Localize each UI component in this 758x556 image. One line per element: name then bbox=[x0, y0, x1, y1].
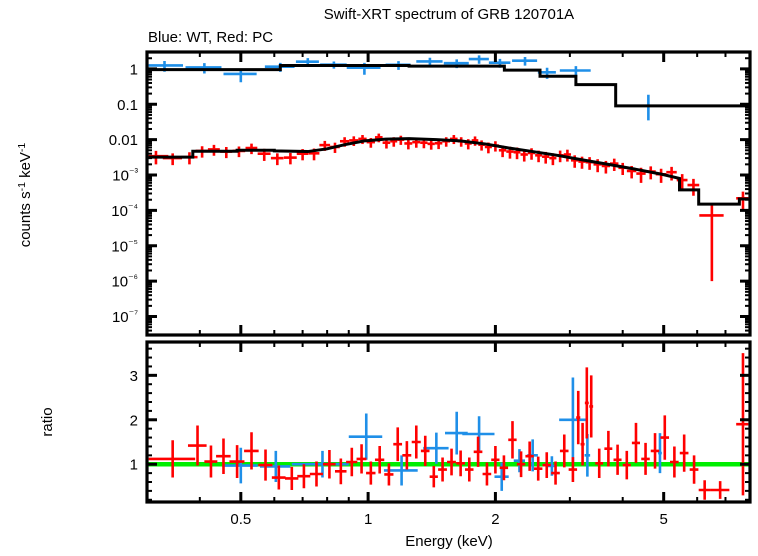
x-tick-label: 5 bbox=[660, 511, 668, 528]
x-tick-label: 1 bbox=[364, 511, 372, 528]
y-tick-label: 1 bbox=[130, 61, 138, 78]
legend-subtitle: Blue: WT, Red: PC bbox=[148, 29, 273, 46]
y-axis-label-ratio: ratio bbox=[39, 407, 56, 436]
x-tick-label: 0.5 bbox=[230, 511, 251, 528]
y-tick-label: 0.1 bbox=[117, 97, 138, 114]
page-title: Swift-XRT spectrum of GRB 120701A bbox=[324, 6, 574, 23]
y-tick-label: 0.01 bbox=[109, 132, 138, 149]
y-tick-label: 2 bbox=[130, 412, 138, 429]
y-tick-label: 3 bbox=[130, 368, 138, 385]
x-axis-label: Energy (keV) bbox=[405, 533, 493, 550]
y-axis-label-spectrum: counts s-1 keV-1 bbox=[16, 143, 34, 248]
svg-text:counts s-1 keV-1: counts s-1 keV-1 bbox=[16, 143, 34, 248]
x-tick-label: 2 bbox=[491, 511, 499, 528]
y-tick-label: 1 bbox=[130, 457, 138, 474]
spectrum-figure: Swift-XRT spectrum of GRB 120701A Blue: … bbox=[0, 0, 758, 556]
